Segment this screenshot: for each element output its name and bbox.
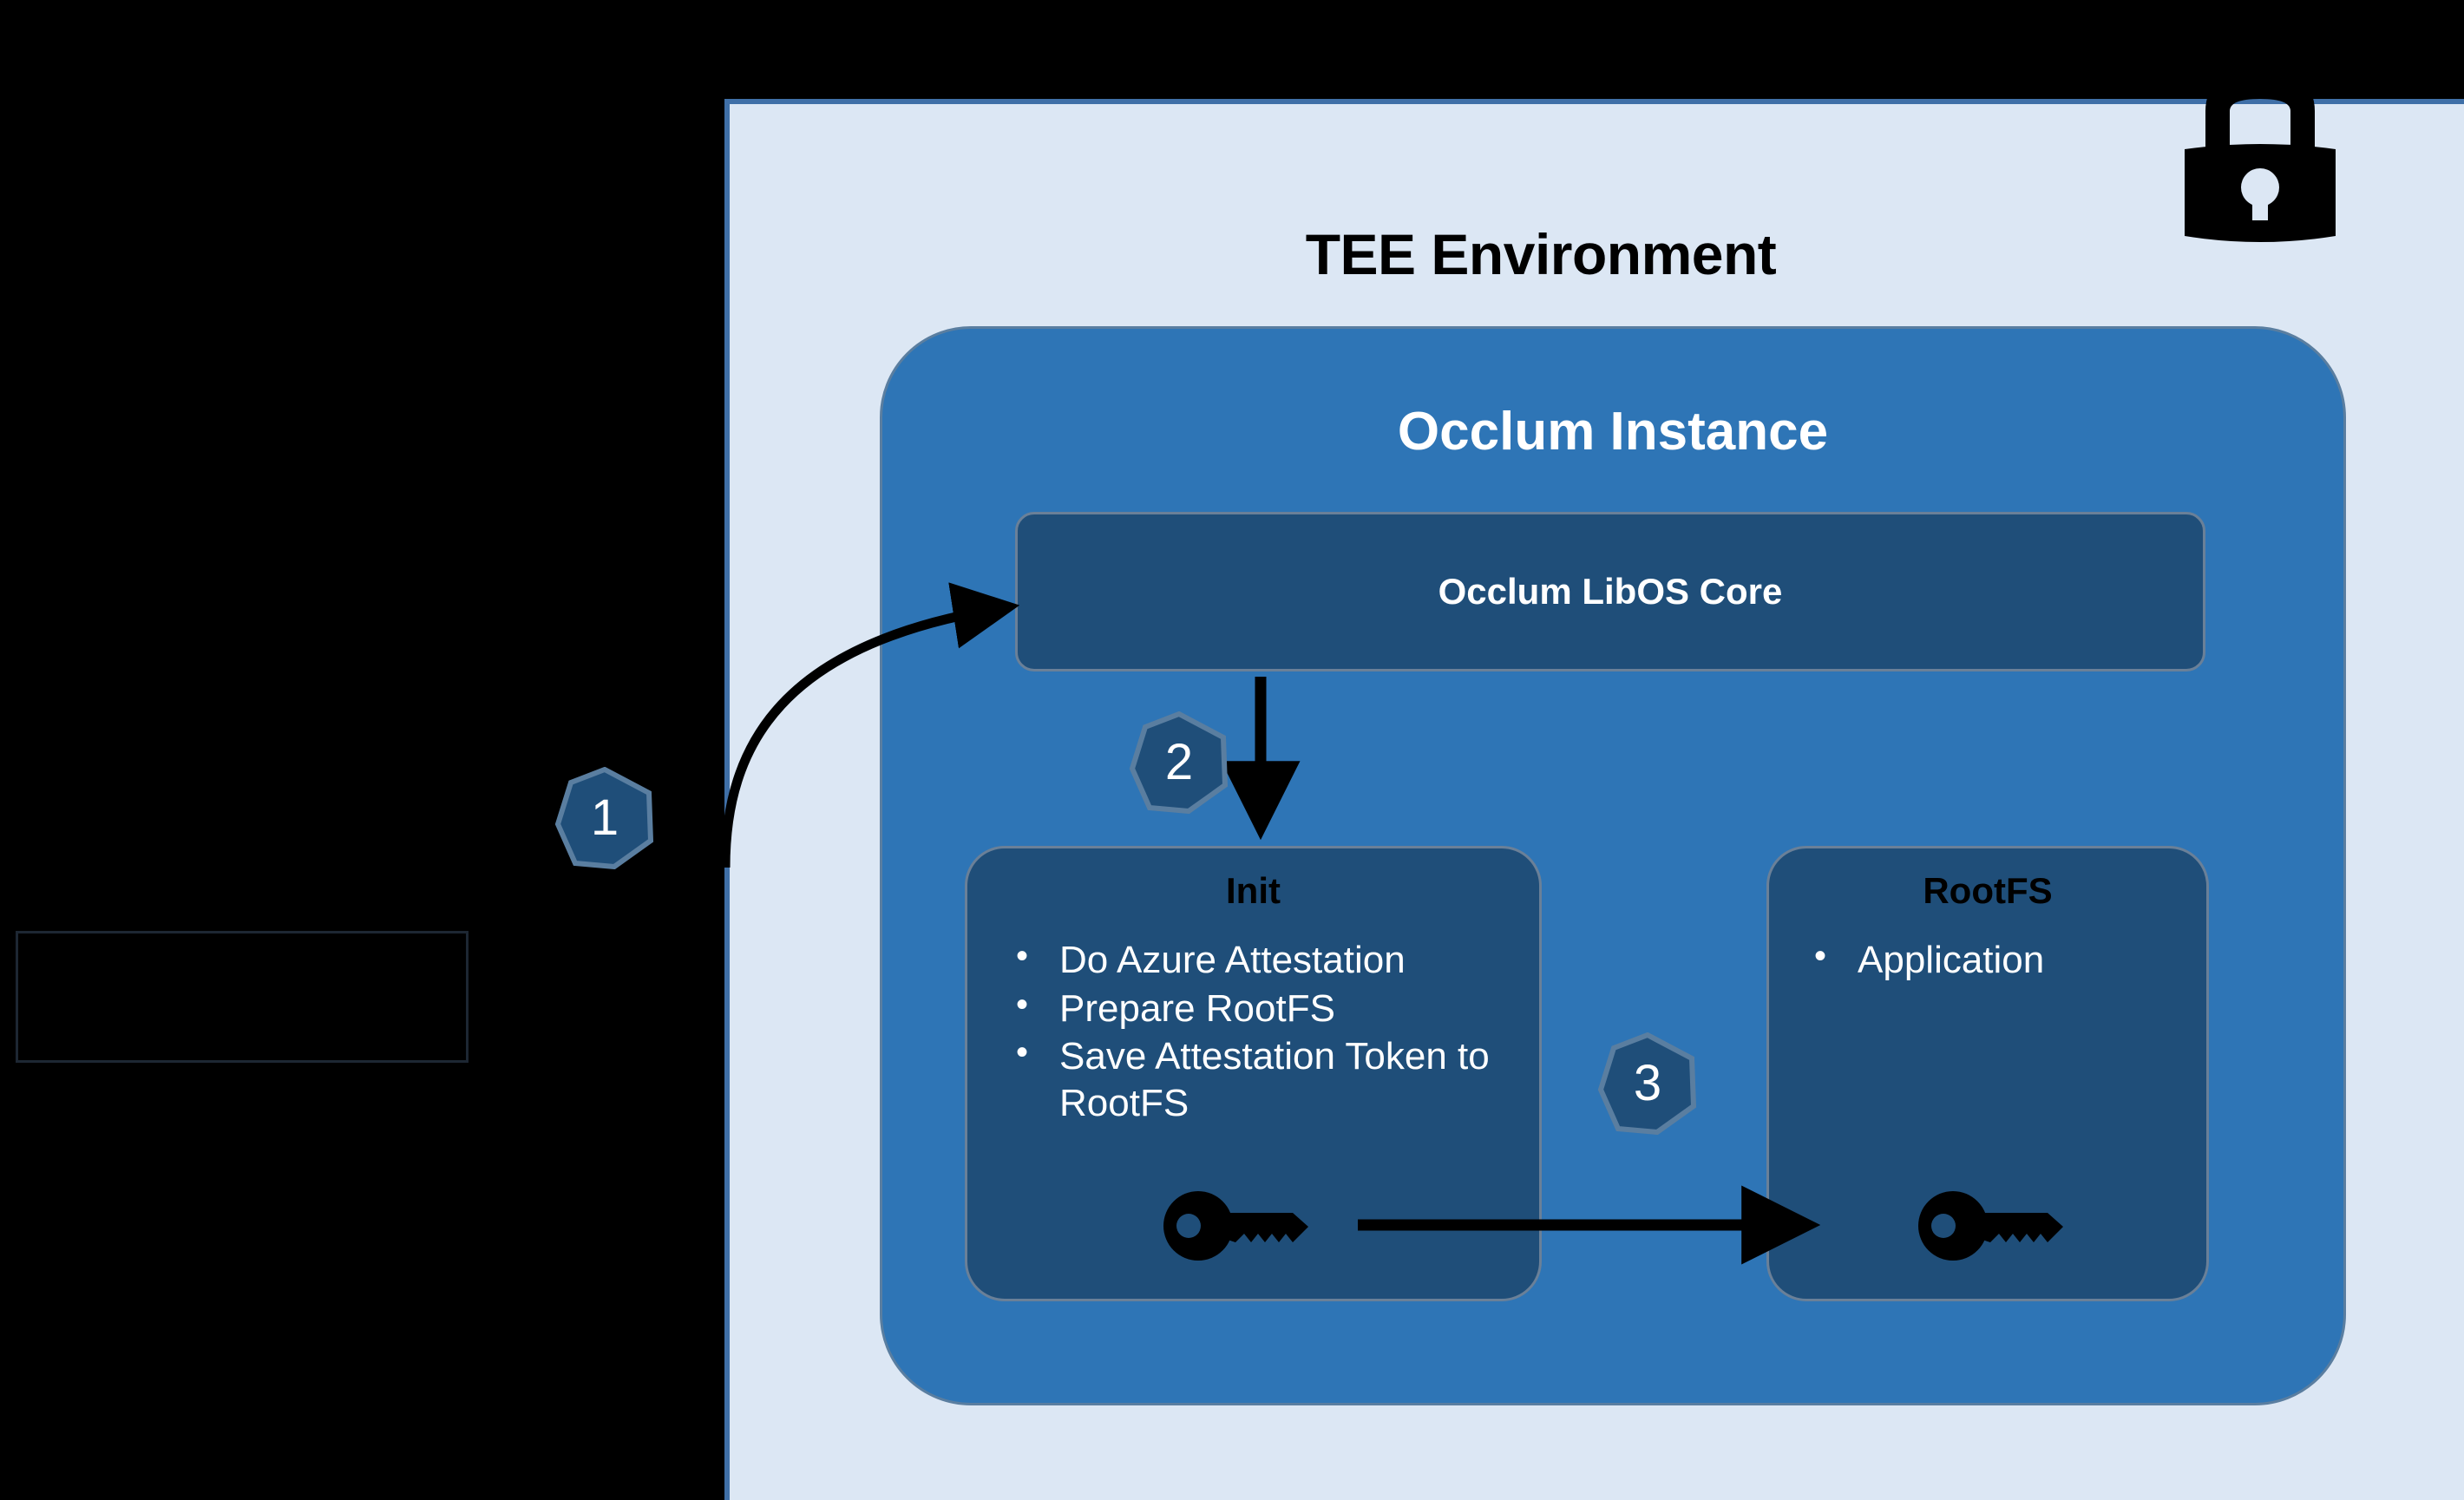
step-badge-2: 2: [1128, 711, 1230, 814]
step-badge-3: 3: [1596, 1032, 1699, 1135]
occlum-libos-core-box: Occlum LibOS Core: [1015, 512, 2205, 671]
padlock-icon: [2169, 66, 2351, 248]
key-icon: [1163, 1189, 1312, 1263]
list-item: Save Attestation Token to RootFS: [1006, 1033, 1526, 1126]
left-outline-rectangle: [16, 931, 469, 1063]
key-icon: [1917, 1189, 2067, 1263]
occlum-libos-core-label: Occlum LibOS Core: [1018, 514, 2203, 669]
list-item: Prepare RootFS: [1006, 986, 1526, 1032]
diagram-canvas: TEE Environment Occlum Instance Occlum L…: [0, 0, 2464, 1500]
tee-environment-title: TEE Environment: [730, 226, 2352, 283]
step-badge-1: 1: [554, 767, 656, 869]
list-item: Do Azure Attestation: [1006, 937, 1526, 984]
step-badge-number: 2: [1128, 711, 1230, 814]
init-bullet-list: Do Azure Attestation Prepare RootFS Save…: [1006, 937, 1526, 1129]
init-title: Init: [967, 873, 1539, 909]
rootfs-bullet-list: Application: [1804, 937, 2194, 986]
list-item: Application: [1804, 937, 2194, 984]
rootfs-title: RootFS: [1769, 873, 2206, 909]
occlum-instance-title: Occlum Instance: [882, 405, 2343, 459]
step-badge-number: 1: [554, 767, 656, 869]
step-badge-number: 3: [1596, 1032, 1699, 1135]
